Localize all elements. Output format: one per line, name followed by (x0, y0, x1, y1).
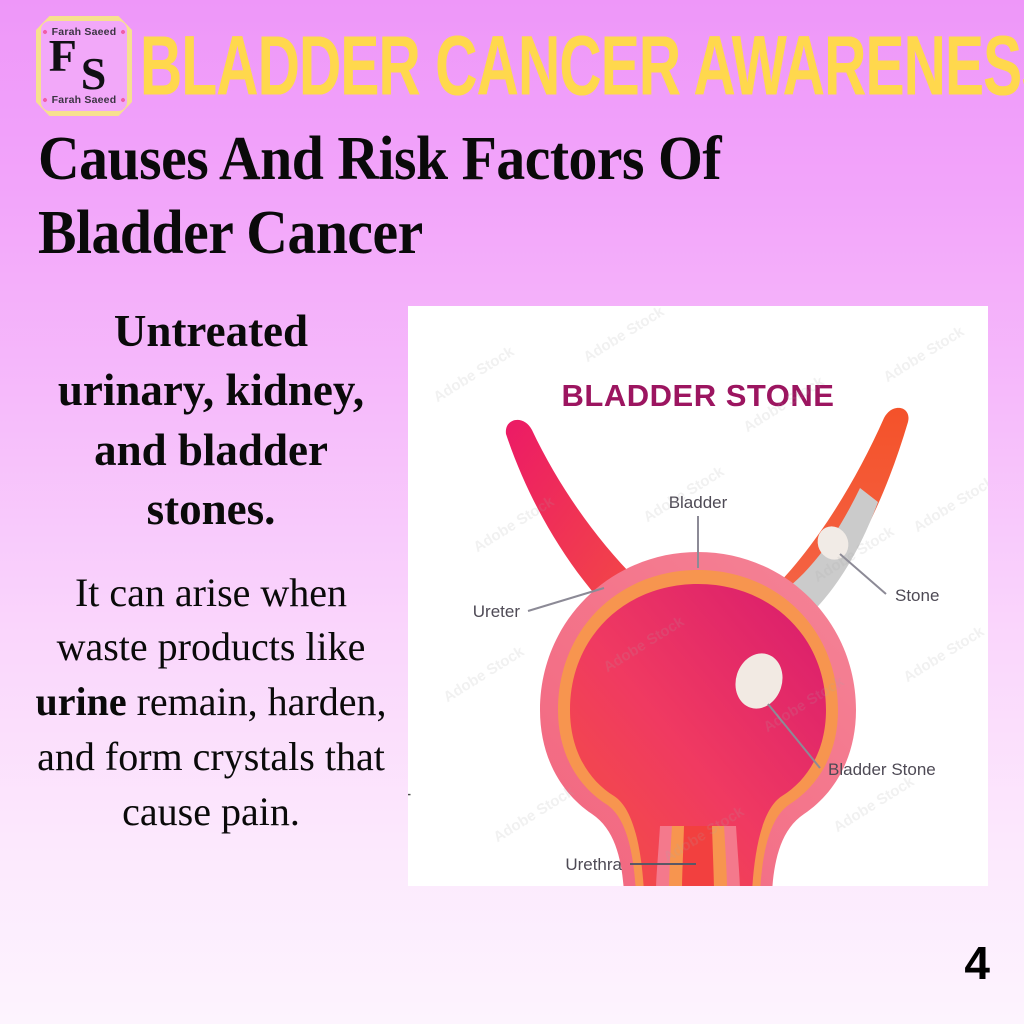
awareness-banner-text: BLADDER CANCER AWARENESS (140, 24, 1024, 108)
illustration-panel: BLADDER STONE (408, 306, 988, 886)
logo-name-top: Farah Saeed (52, 26, 117, 38)
label-bladder: Bladder (669, 493, 728, 512)
stock-credit: Adobe Stock | #602950902 (408, 725, 411, 870)
label-stone: Stone (895, 586, 939, 605)
header-row: Farah Saeed F S Farah Saeed BLADDER CANC… (36, 14, 1006, 118)
page-title: Causes And Risk Factors Of Bladder Cance… (38, 122, 856, 271)
label-ureter: Ureter (473, 602, 521, 621)
page-number: 4 (964, 936, 990, 990)
brand-logo: Farah Saeed F S Farah Saeed (36, 16, 132, 116)
lead-statement: Untreated urinary, kidney, and bladder s… (22, 302, 400, 540)
logo-monogram: F S (65, 37, 104, 92)
left-text-column: Untreated urinary, kidney, and bladder s… (22, 302, 400, 840)
body-text-emphasis: urine (35, 679, 126, 724)
label-bladder-stone: Bladder Stone (828, 760, 936, 779)
bladder-stone-diagram: Bladder Ureter Stone Bladder Stone Ureth… (408, 306, 988, 886)
leader-line-stone (840, 554, 886, 594)
body-text-before: It can arise when waste products like (57, 570, 366, 670)
logo-monogram-s: S (81, 55, 104, 93)
logo-name-bottom: Farah Saeed (52, 94, 117, 106)
label-urethra: Urethra (565, 855, 622, 874)
body-paragraph: It can arise when waste products like ur… (22, 566, 400, 840)
urethra-lumen (682, 826, 714, 886)
